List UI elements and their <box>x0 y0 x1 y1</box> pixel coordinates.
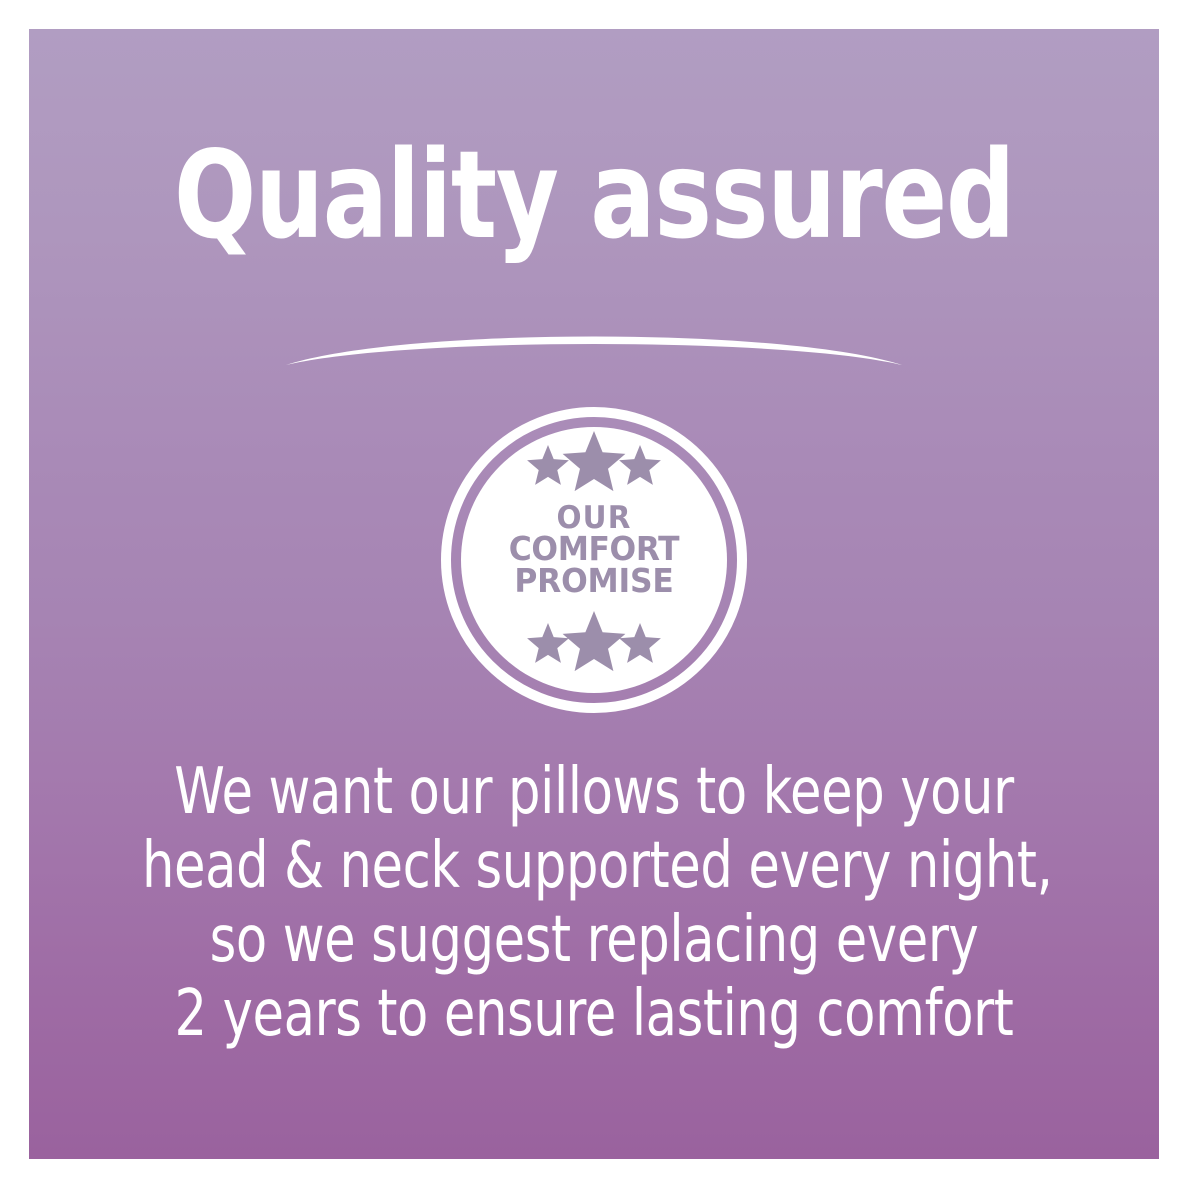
page-title: Quality assured <box>142 132 1046 260</box>
promo-card: Quality assured <box>0 0 1188 1188</box>
badge-line-3: PROMISE <box>449 565 740 597</box>
body-line-3: so we suggest replacing every <box>142 903 1046 977</box>
body-line-4: 2 years to ensure lasting comfort <box>142 977 1046 1051</box>
arc-divider-icon <box>284 321 904 373</box>
body-line-2: head & neck supported every night, <box>142 829 1046 903</box>
arc-divider <box>284 321 904 373</box>
comfort-promise-badge: OUR COMFORT PROMISE <box>441 407 747 713</box>
badge-text: OUR COMFORT PROMISE <box>449 503 740 597</box>
body-copy: We want our pillows to keep your head & … <box>29 755 1159 1051</box>
gradient-panel: Quality assured <box>29 29 1159 1159</box>
body-line-1: We want our pillows to keep your <box>142 755 1046 829</box>
